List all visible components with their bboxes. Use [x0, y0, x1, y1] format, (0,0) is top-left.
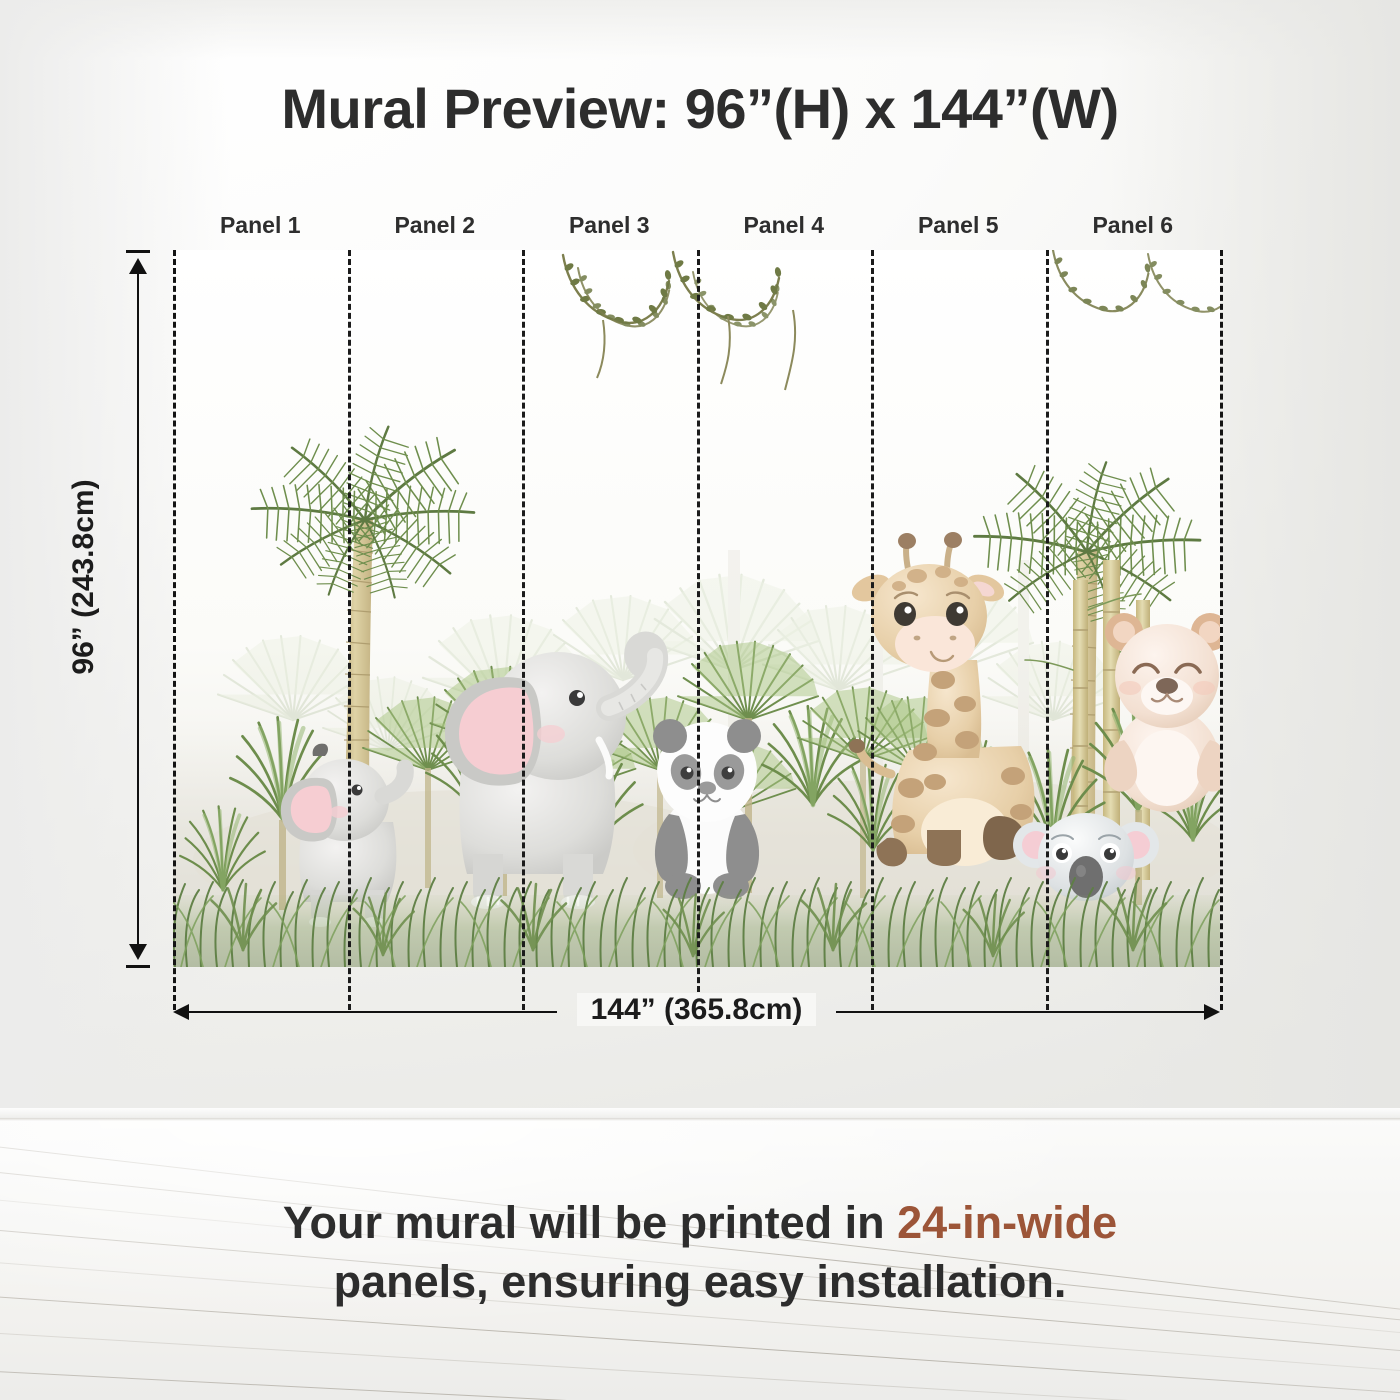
width-dimension-label-text: 144” (365.8cm) — [577, 993, 817, 1026]
panel-divider-right-edge — [1220, 250, 1223, 1010]
caption-accent: 24-in-wide — [897, 1197, 1117, 1248]
page-title: Mural Preview: 96”(H) x 144”(W) — [0, 76, 1400, 141]
panel-divider-left-edge — [173, 250, 176, 1010]
panel-label-2: Panel 2 — [348, 212, 523, 239]
caption: Your mural will be printed in 24-in-wide… — [0, 1193, 1400, 1312]
width-dimension-label: 144” (365.8cm) — [173, 993, 1220, 1027]
panel-label-1: Panel 1 — [173, 212, 348, 239]
caption-line-1: Your mural will be printed in 24-in-wide — [0, 1193, 1400, 1252]
mural-preview-mockup: Mural Preview: 96”(H) x 144”(W) Panel 1 … — [0, 0, 1400, 1400]
height-dimension-line — [137, 264, 139, 954]
height-dimension-arrow — [118, 250, 158, 968]
panel-divider-4 — [871, 250, 874, 1010]
height-dimension-label: 96” (243.8cm) — [67, 427, 101, 727]
panel-divider-2 — [522, 250, 525, 1010]
panel-label-3: Panel 3 — [522, 212, 697, 239]
width-dimension-arrow: 144” (365.8cm) — [173, 1000, 1220, 1026]
height-arrowhead-down — [129, 944, 147, 960]
panel-label-4: Panel 4 — [697, 212, 872, 239]
panel-divider-5 — [1046, 250, 1049, 1010]
panel-labels-row: Panel 1 Panel 2 Panel 3 Panel 4 Panel 5 … — [173, 212, 1220, 246]
panel-label-6: Panel 6 — [1046, 212, 1221, 239]
panel-divider-1 — [348, 250, 351, 1010]
caption-line-2: panels, ensuring easy installation. — [0, 1252, 1400, 1311]
wall-floor-seam — [0, 1118, 1400, 1121]
panel-divider-3 — [697, 250, 700, 1010]
panel-label-5: Panel 5 — [871, 212, 1046, 239]
height-tick-top — [126, 250, 150, 253]
caption-line-1-pre: Your mural will be printed in — [283, 1197, 897, 1248]
height-tick-bottom — [126, 965, 150, 968]
